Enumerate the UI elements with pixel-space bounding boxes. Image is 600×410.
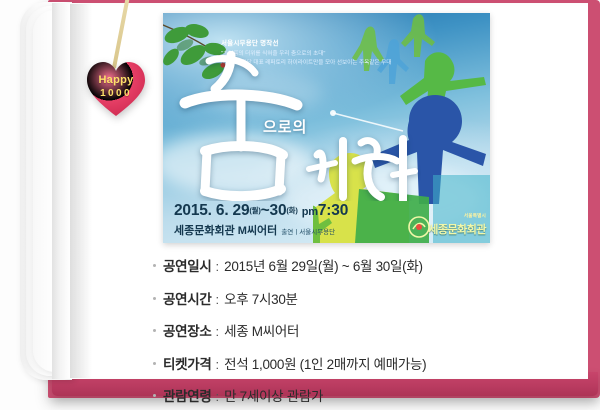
poster-header-line3: 서울시무용단 대표 레퍼토리 하이라이트만을 모아 선보이는 주옥같은 무대 [221, 59, 471, 67]
detail-value: 만 7세이상 관람가 [224, 385, 323, 405]
sejong-emblem-icon [408, 216, 430, 238]
bullet-icon [153, 264, 156, 267]
detail-value: 전석 1,000원 (1인 2매까지 예매가능) [224, 353, 426, 373]
bullet-icon [153, 297, 156, 300]
poster-header-line1: 서울시무용단 명작선 [221, 39, 471, 49]
detail-label: 공연장소 [163, 320, 211, 340]
poster-date-block: 2015. 6. 29(월)~30(화) pm7:30 세종문화회관 M씨어터출… [174, 202, 348, 238]
page-gutter-curl [52, 3, 70, 379]
detail-row: 공연시간 : 오후 7시30분 [153, 288, 493, 308]
poster-cast: 출연ㅣ서울시무용단 [281, 229, 335, 236]
bullet-icon [153, 329, 156, 332]
detail-value: 세종 M씨어터 [224, 320, 299, 340]
poster-venue-line: 세종문화회관 M씨어터출연ㅣ서울시무용단 [174, 222, 348, 238]
detail-row: 공연장소 : 세종 M씨어터 [153, 320, 493, 340]
sejong-center-logo: 서울특별시 세종문화회관 [408, 213, 486, 239]
poster-header-line2: "초여름의 더위를 식혀줄 우리 춤으로의 초대" [221, 50, 471, 58]
detail-row: 공연일시 : 2015년 6월 29일(월) ~ 6월 30일(화) [153, 255, 493, 275]
poster-venue: 세종문화회관 M씨어터 [174, 225, 277, 237]
detail-separator: : [215, 292, 219, 307]
performance-details-list: 공연일시 : 2015년 6월 29일(월) ~ 6월 30일(화) 공연시간 … [153, 255, 493, 410]
sejong-logo-main: 세종문화회관 [428, 221, 486, 237]
poster-title-middle: 으로의 [263, 116, 307, 137]
performance-poster[interactable]: 서울시무용단 명작선 "초여름의 더위를 식혀줄 우리 춤으로의 초대" 서울시… [163, 13, 490, 243]
detail-value: 2015년 6월 29일(월) ~ 6월 30일(화) [224, 255, 423, 275]
detail-separator: : [215, 357, 219, 372]
detail-separator: : [215, 324, 219, 339]
detail-row: 티켓가격 : 전석 1,000원 (1인 2매까지 예매가능) [153, 353, 493, 373]
detail-separator: : [215, 389, 219, 404]
poster-date-line: 2015. 6. 29(월)~30(화) pm7:30 [174, 202, 348, 219]
heart-bookmark-icon[interactable] [85, 60, 147, 118]
bullet-icon [153, 394, 156, 397]
detail-separator: : [215, 259, 219, 274]
poster-date-range: ~30 [261, 202, 287, 219]
poster-header-text: 서울시무용단 명작선 "초여름의 더위를 식혀줄 우리 춤으로의 초대" 서울시… [221, 39, 471, 68]
bullet-icon [153, 362, 156, 365]
detail-label: 관람연령 [163, 385, 211, 405]
book-page-scene: Happy 1000 [0, 0, 600, 410]
poster-date-main: 2015. 6. 29 [174, 202, 249, 219]
detail-label: 티켓가격 [163, 353, 211, 373]
poster-date-day2: (화) [286, 206, 297, 215]
detail-row: 관람연령 : 만 7세이상 관람가 [153, 385, 493, 405]
detail-label: 공연일시 [163, 255, 211, 275]
poster-time-label: pm [302, 206, 318, 218]
poster-date-day1: (월) [249, 206, 260, 215]
poster-time-value: 7:30 [318, 202, 348, 219]
sejong-logo-top: 서울특별시 [464, 213, 486, 219]
detail-label: 공연시간 [163, 288, 211, 308]
detail-value: 오후 7시30분 [224, 288, 298, 308]
